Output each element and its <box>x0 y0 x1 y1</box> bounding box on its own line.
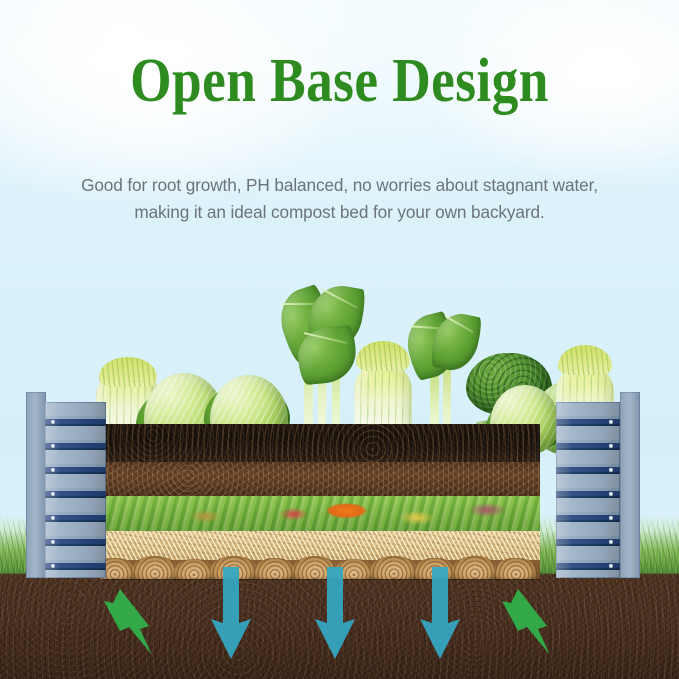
arrow-down-water-2 <box>313 567 357 663</box>
compost-bed-cross-section <box>100 424 540 579</box>
right-metal-post <box>556 402 640 578</box>
right-post-slat-face <box>556 402 620 578</box>
right-post-side-edge <box>620 392 640 578</box>
chard-leaf <box>296 325 359 386</box>
left-post-side-edge <box>26 392 46 578</box>
page-subtitle: Good for root growth, PH balanced, no wo… <box>0 172 679 225</box>
page-subtitle-line-1: Good for root growth, PH balanced, no wo… <box>22 172 657 199</box>
layer-compost <box>100 462 540 496</box>
arrow-up-roots-left <box>100 583 158 659</box>
product-feature-banner: Open Base Design Good for root growth, P… <box>0 0 679 679</box>
arrow-down-water-3 <box>418 567 462 663</box>
left-post-slat-face <box>45 402 106 578</box>
layer-kitchen-scraps <box>100 496 540 531</box>
page-title: Open Base Design <box>48 50 632 112</box>
layer-topsoil <box>100 424 540 462</box>
arrow-up-roots-right <box>498 583 556 659</box>
arrow-down-water-1 <box>209 567 253 663</box>
left-metal-post <box>26 402 106 578</box>
page-subtitle-line-2: making it an ideal compost bed for your … <box>22 199 657 226</box>
